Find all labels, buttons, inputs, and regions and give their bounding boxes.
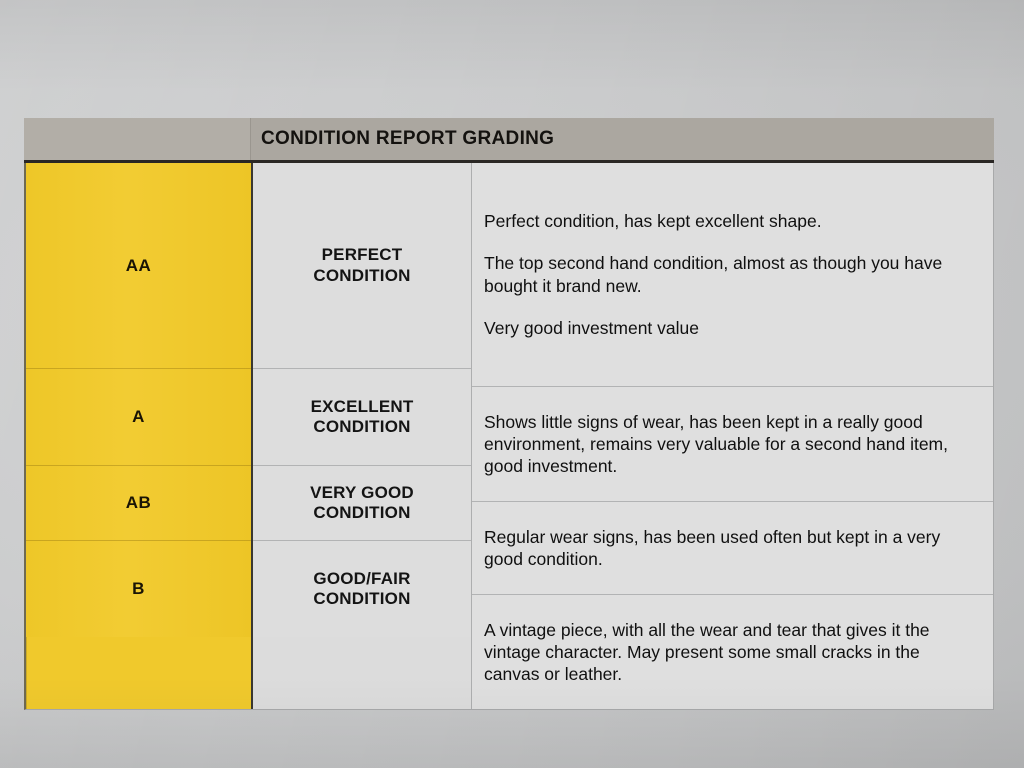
header-cell-title: CONDITION REPORT GRADING (251, 118, 994, 160)
table-row: AA (26, 163, 251, 369)
page-title: CONDITION REPORT GRADING (261, 128, 554, 150)
grade-label: B (132, 579, 145, 599)
condition-label-line2: CONDITION (313, 503, 410, 522)
description-column: Perfect condition, has kept excellent sh… (472, 163, 993, 709)
condition-label-line2: CONDITION (313, 589, 410, 608)
grade-label: AB (126, 493, 152, 513)
condition-label-line2: CONDITION (313, 266, 410, 285)
table-cell-description: Regular wear signs, has been used often … (472, 502, 993, 595)
table-header-row: CONDITION REPORT GRADING (24, 118, 994, 163)
condition-label-line2: CONDITION (313, 417, 410, 436)
description-paragraph: Very good investment value (484, 317, 979, 339)
condition-label-line1: PERFECT (322, 245, 403, 264)
condition-label-line1: VERY GOOD (310, 483, 414, 502)
grade-label: AA (126, 256, 152, 276)
grade-column: AA A AB B (26, 163, 253, 709)
table-row: B (26, 541, 251, 637)
condition-label-line1: EXCELLENT (311, 397, 414, 416)
table-cell-description: A vintage piece, with all the wear and t… (472, 595, 993, 709)
description-paragraph: Perfect condition, has kept excellent sh… (484, 210, 979, 232)
table-cell-description: Shows little signs of wear, has been kep… (472, 387, 993, 502)
table-cell-description: Perfect condition, has kept excellent sh… (472, 163, 993, 387)
table-cell-condition: GOOD/FAIR CONDITION (253, 541, 471, 637)
table-cell-condition: VERY GOOD CONDITION (253, 466, 471, 541)
description-paragraph: Regular wear signs, has been used often … (484, 526, 979, 570)
description-paragraph: The top second hand condition, almost as… (484, 252, 979, 296)
description-paragraph: Shows little signs of wear, has been kep… (484, 411, 979, 477)
table-row: AB (26, 466, 251, 541)
description-paragraph: A vintage piece, with all the wear and t… (484, 619, 979, 685)
header-cell-spacer (24, 118, 251, 160)
table-body: AA A AB B PERFECT CONDITION EXCELLENT (24, 163, 994, 710)
table-row: A (26, 369, 251, 466)
condition-name-column: PERFECT CONDITION EXCELLENT CONDITION VE… (253, 163, 472, 709)
table-cell-condition: PERFECT CONDITION (253, 163, 471, 369)
condition-label-line1: GOOD/FAIR (313, 569, 410, 588)
grade-label: A (132, 407, 145, 427)
condition-report-grading-table: CONDITION REPORT GRADING AA A AB B PERFE… (24, 118, 994, 710)
table-cell-condition: EXCELLENT CONDITION (253, 369, 471, 466)
